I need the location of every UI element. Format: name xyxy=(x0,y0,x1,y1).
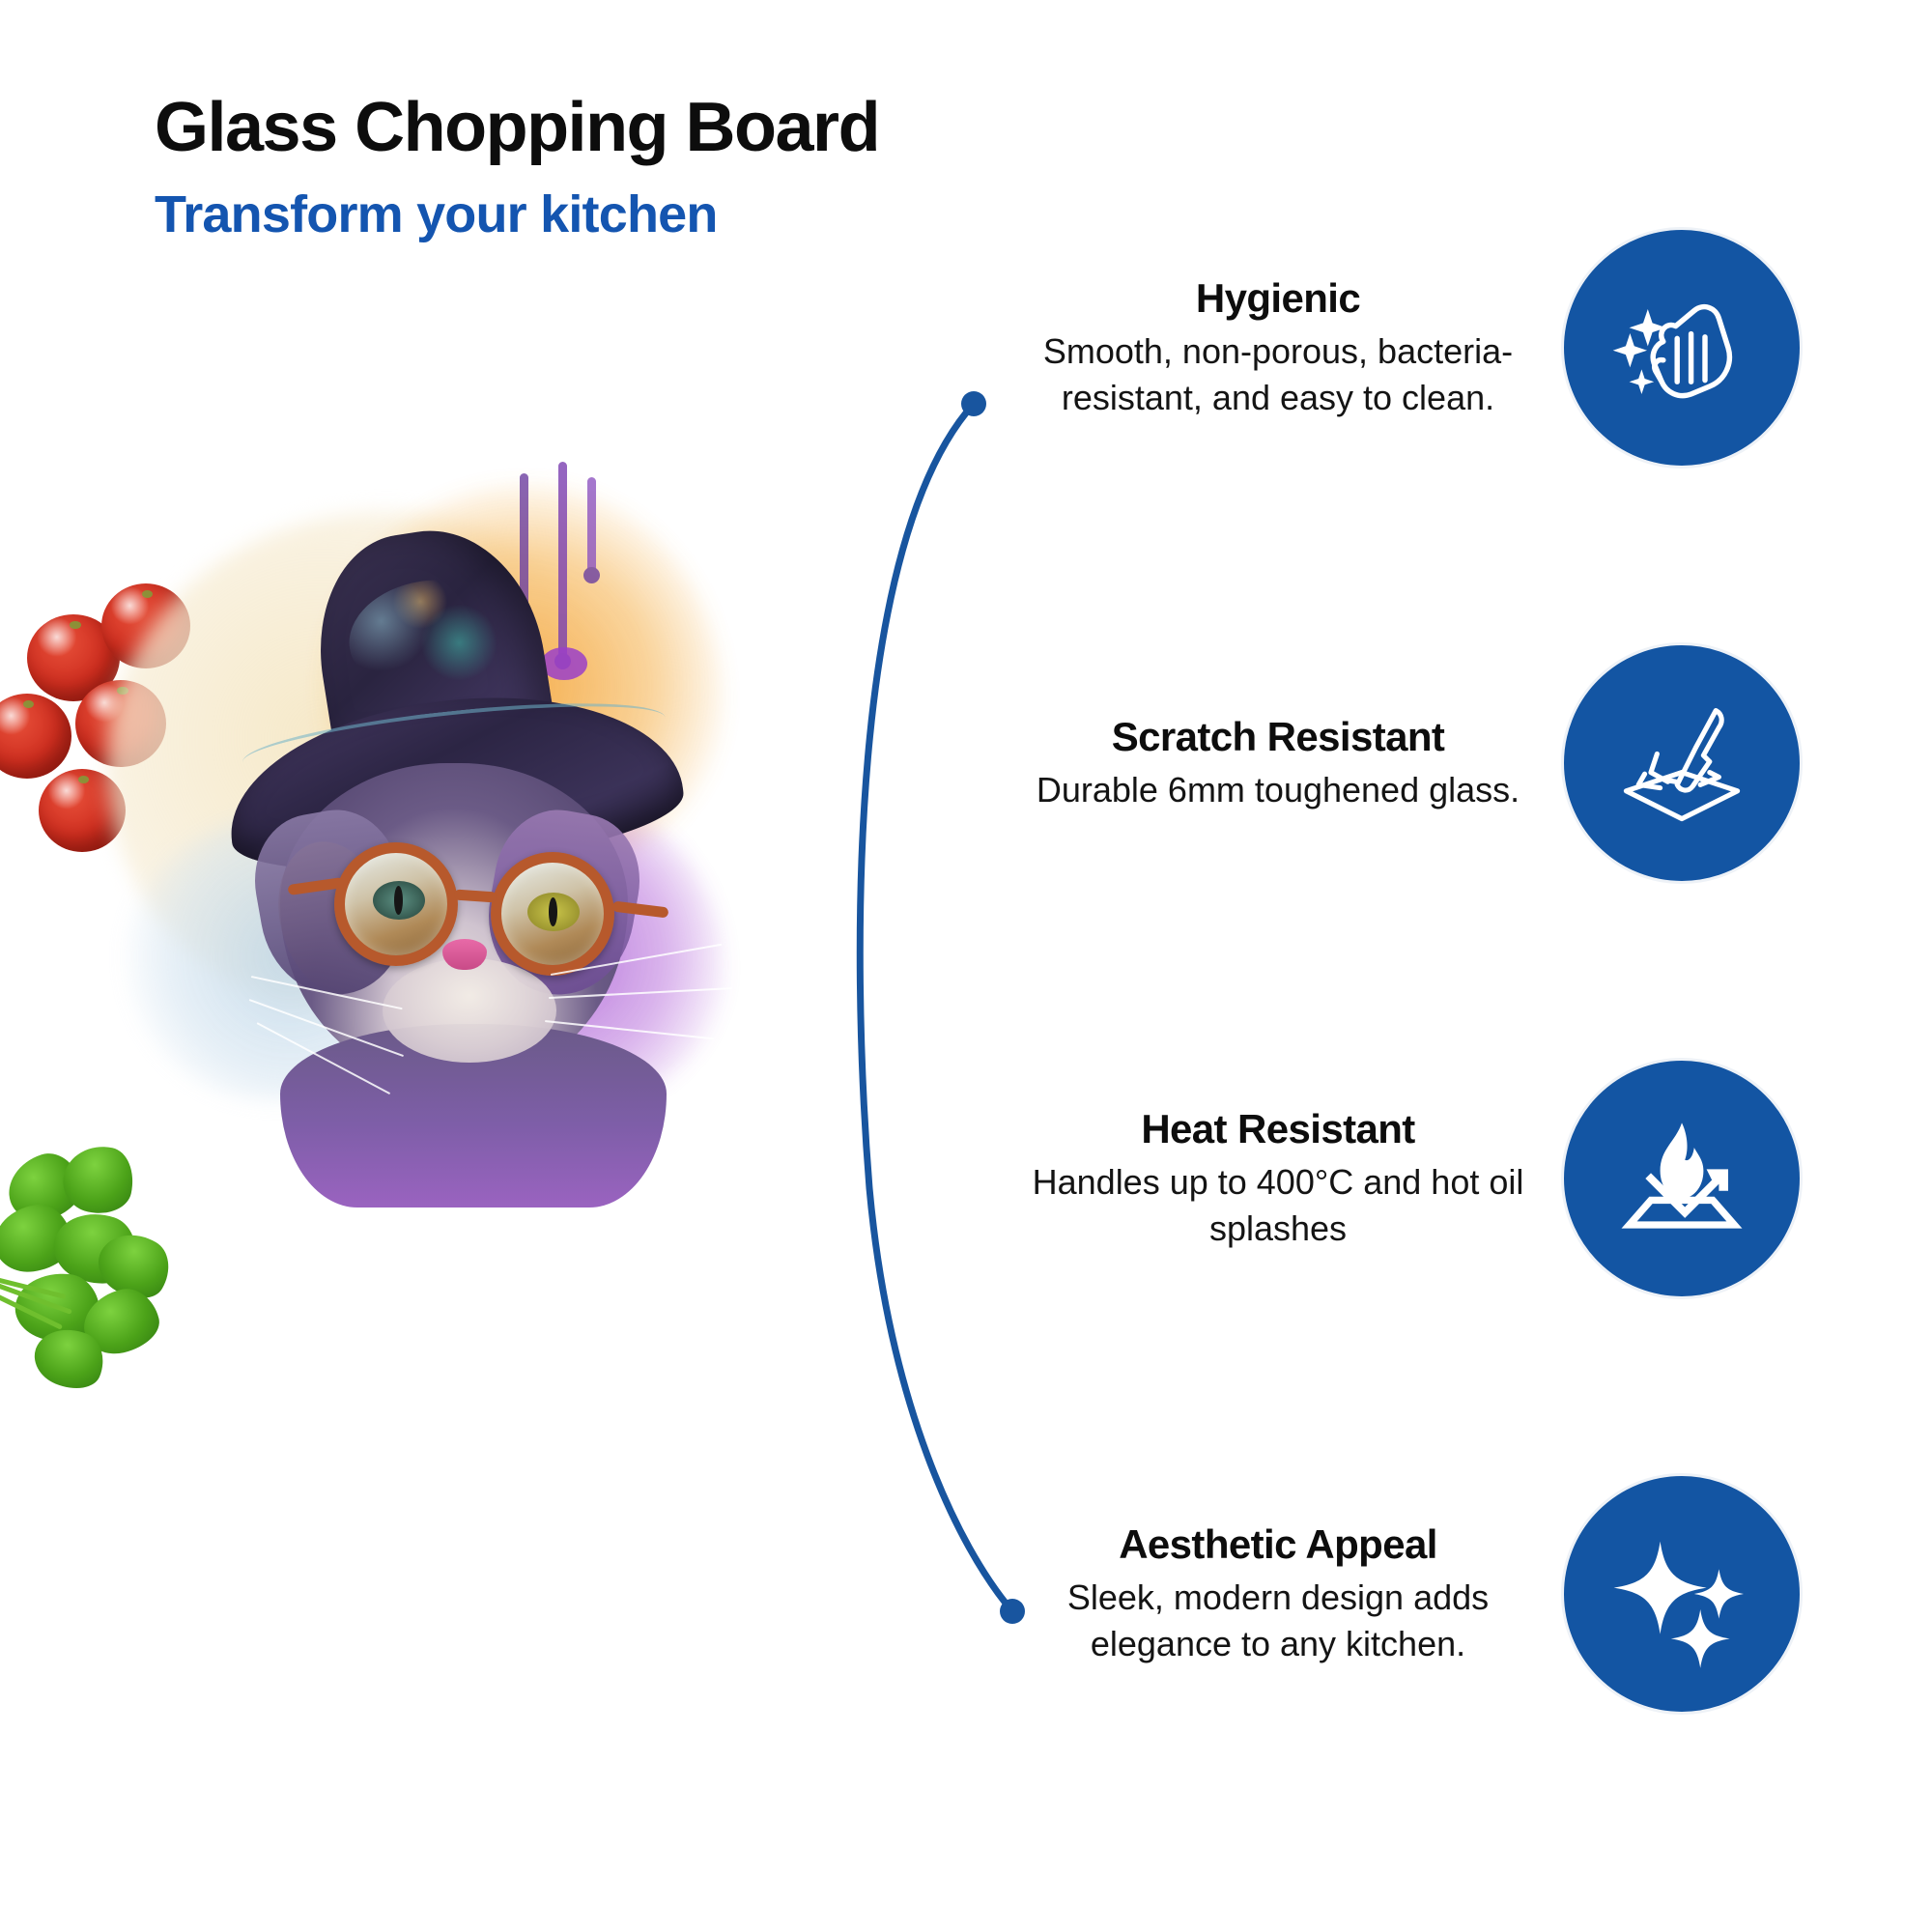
feature-icon-badge xyxy=(1561,1473,1803,1715)
hand-wipe-sparkle-icon xyxy=(1605,270,1759,425)
feature-title: Scratch Resistant xyxy=(1024,714,1532,759)
connector-dot-top xyxy=(961,391,986,416)
feature-row-scratch-resistant: Scratch Resistant Durable 6mm toughened … xyxy=(1024,642,1932,884)
feature-description: Smooth, non-porous, bacteria-resistant, … xyxy=(1024,328,1532,420)
connector-path xyxy=(860,404,1012,1611)
paint-drip xyxy=(587,477,596,574)
page-title: Glass Chopping Board xyxy=(155,92,1121,165)
feature-text: Scratch Resistant Durable 6mm toughened … xyxy=(1024,714,1546,813)
feature-description: Durable 6mm toughened glass. xyxy=(1024,767,1532,813)
sparkles-icon xyxy=(1605,1517,1759,1671)
feature-text: Aesthetic Appeal Sleek, modern design ad… xyxy=(1024,1521,1546,1666)
feature-icon-badge xyxy=(1561,1058,1803,1299)
feature-title: Hygienic xyxy=(1024,275,1532,321)
feature-text: Heat Resistant Handles up to 400°C and h… xyxy=(1024,1106,1546,1251)
feature-description: Handles up to 400°C and hot oil splashes xyxy=(1024,1159,1532,1251)
feature-title: Aesthetic Appeal xyxy=(1024,1521,1532,1567)
infographic-canvas: Glass Chopping Board Transform your kitc… xyxy=(0,0,1932,1932)
knife-on-surface-icon xyxy=(1605,686,1759,840)
cat-muzzle xyxy=(383,958,556,1063)
cat-pupil-left xyxy=(394,886,403,915)
cherry-tomato xyxy=(0,694,71,779)
header: Glass Chopping Board Transform your kitc… xyxy=(155,92,1121,243)
cat-pupil-right xyxy=(549,897,557,926)
paint-splatter xyxy=(541,647,587,680)
feature-title: Heat Resistant xyxy=(1024,1106,1532,1151)
feature-text: Hygienic Smooth, non-porous, bacteria-re… xyxy=(1024,275,1546,420)
connector-dot-bottom xyxy=(1000,1599,1025,1624)
page-subtitle: Transform your kitchen xyxy=(155,186,1121,243)
feature-icon-badge xyxy=(1561,227,1803,469)
paint-drip xyxy=(558,462,567,660)
feature-description: Sleek, modern design adds elegance to an… xyxy=(1024,1575,1532,1666)
feature-row-aesthetic-appeal: Aesthetic Appeal Sleek, modern design ad… xyxy=(1024,1473,1932,1715)
parsley-garnish xyxy=(0,1150,193,1391)
feature-icon-badge xyxy=(1561,642,1803,884)
flame-deflect-icon xyxy=(1605,1101,1759,1256)
feature-row-hygienic: Hygienic Smooth, non-porous, bacteria-re… xyxy=(1024,227,1932,469)
cat-illustration xyxy=(135,522,734,1063)
feature-row-heat-resistant: Heat Resistant Handles up to 400°C and h… xyxy=(1024,1058,1932,1299)
